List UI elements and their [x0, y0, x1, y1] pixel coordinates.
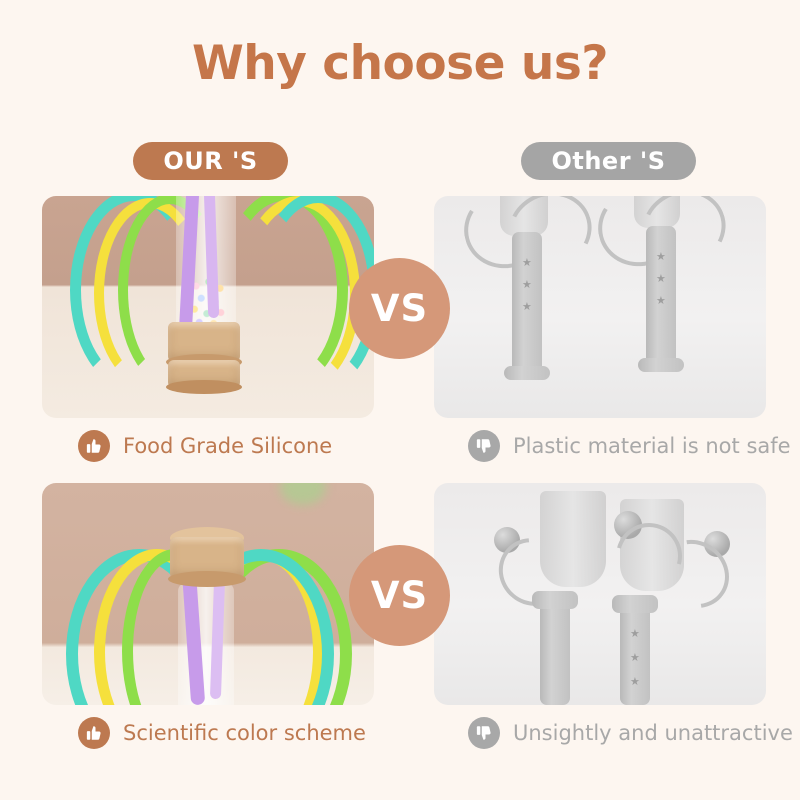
vs-badge-1: VS — [349, 258, 450, 359]
thumbs-down-icon — [468, 717, 500, 749]
product-photo-ours-1 — [42, 196, 374, 418]
badge-other: Other 'S — [521, 142, 696, 180]
caption-text: Scientific color scheme — [123, 721, 366, 745]
photo-scene — [42, 196, 374, 418]
page-title: Why choose us? — [0, 36, 800, 91]
caption-text: Food Grade Silicone — [123, 434, 332, 458]
product-photo-other-1: ★ ★ ★ ★ ★ ★ — [434, 196, 766, 418]
comparison-row-1: VS ★ ★ ★ ★ ★ ★ Food G — [0, 196, 800, 478]
thumbs-down-icon — [468, 430, 500, 462]
thumbs-up-icon — [78, 430, 110, 462]
vs-badge-2: VS — [349, 545, 450, 646]
badge-row: OUR 'S Other 'S — [0, 142, 800, 180]
caption-text: Plastic material is not safe — [513, 434, 791, 458]
caption-ours-2: Scientific color scheme — [78, 717, 366, 749]
caption-other-1: Plastic material is not safe — [468, 430, 791, 462]
thumbs-up-icon — [78, 717, 110, 749]
photo-scene — [42, 483, 374, 705]
product-photo-other-2: ★ ★ ★ — [434, 483, 766, 705]
caption-other-2: Unsightly and unattractive — [468, 717, 793, 749]
caption-text: Unsightly and unattractive — [513, 721, 793, 745]
product-photo-ours-2 — [42, 483, 374, 705]
photo-scene: ★ ★ ★ ★ ★ ★ — [434, 196, 766, 418]
comparison-row-2: VS ★ ★ ★ Scientific color — [0, 483, 800, 765]
photo-scene: ★ ★ ★ — [434, 483, 766, 705]
caption-ours-1: Food Grade Silicone — [78, 430, 332, 462]
badge-ours: OUR 'S — [133, 142, 288, 180]
